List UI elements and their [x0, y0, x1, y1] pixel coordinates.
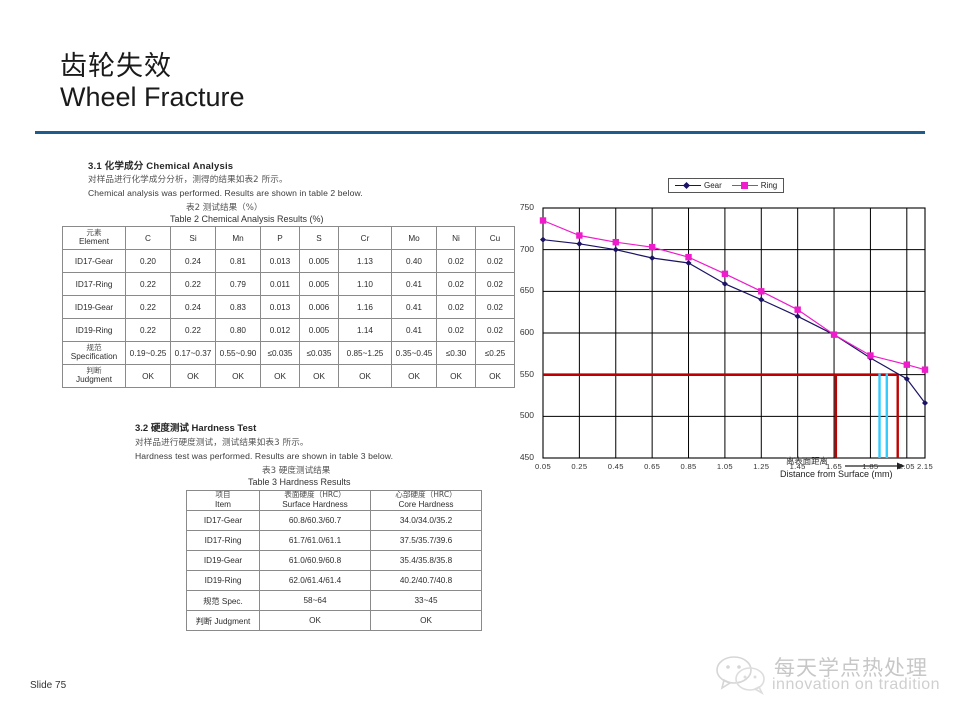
cell: 0.22	[171, 319, 216, 342]
table-row: ID17-Ring 0.22 0.22 0.79 0.011 0.005 1.1…	[63, 273, 515, 296]
table-row: ID17-Ring 61.7/61.0/61.1 37.5/35.7/39.6	[187, 531, 482, 551]
cell-surface: 60.8/60.3/60.7	[260, 511, 371, 531]
y-axis-tick-label: 500	[508, 410, 534, 420]
cell: OK	[216, 365, 261, 388]
cell-surface: OK	[260, 611, 371, 631]
hardness-note-chinese: 对样品进行硬度测试，测试结果如表3 所示。	[135, 436, 309, 448]
cell: 0.20	[126, 250, 171, 273]
header-si: Si	[171, 227, 216, 250]
table2-caption-english: Table 2 Chemical Analysis Results (%)	[170, 214, 324, 224]
row-label: ID19-Gear	[63, 296, 126, 319]
cell: 0.013	[261, 296, 300, 319]
y-axis-tick-label: 600	[508, 327, 534, 337]
header-mn: Mn	[216, 227, 261, 250]
y-axis-tick-label: 700	[508, 244, 534, 254]
y-axis-tick-label: 750	[508, 202, 534, 212]
header-p: P	[261, 227, 300, 250]
cell: OK	[339, 365, 392, 388]
table-row: ID19-Gear 0.22 0.24 0.83 0.013 0.006 1.1…	[63, 296, 515, 319]
cell-core: 33~45	[371, 591, 482, 611]
cell: 0.005	[300, 273, 339, 296]
cell: ≤0.30	[437, 342, 476, 365]
table-row-judgment: 判断 Judgment OK OK	[187, 611, 482, 631]
hardness-results-table: 项目 Item 表面硬度（HRC） Surface Hardness 心部硬度（…	[186, 490, 482, 631]
table3-caption-english: Table 3 Hardness Results	[248, 477, 351, 487]
header-mo: Mo	[392, 227, 437, 250]
cell: 0.02	[437, 250, 476, 273]
cell: 0.22	[171, 273, 216, 296]
slide: 齿轮失效 Wheel Fracture 3.1 化学成分 Chemical An…	[0, 0, 960, 720]
cell: 0.02	[437, 296, 476, 319]
table-row-specification: 规范 Specification 0.19~0.25 0.17~0.37 0.5…	[63, 342, 515, 365]
header-s: S	[300, 227, 339, 250]
row-label-judgment: 判断 Judgment	[187, 611, 260, 631]
cell: 0.55~0.90	[216, 342, 261, 365]
cell: 0.41	[392, 296, 437, 319]
cell: 0.011	[261, 273, 300, 296]
cell: 0.02	[437, 319, 476, 342]
row-label: ID19-Ring	[63, 319, 126, 342]
cell: 0.013	[261, 250, 300, 273]
page-title-english: Wheel Fracture	[60, 82, 245, 113]
cell: 0.19~0.25	[126, 342, 171, 365]
cell: ≤0.035	[261, 342, 300, 365]
cell-core: 40.2/40.7/40.8	[371, 571, 482, 591]
row-label: ID19-Ring	[187, 571, 260, 591]
header-cr: Cr	[339, 227, 392, 250]
header-divider	[35, 131, 925, 134]
cell: 1.13	[339, 250, 392, 273]
table-header-row: 项目 Item 表面硬度（HRC） Surface Hardness 心部硬度（…	[187, 491, 482, 511]
cell-core: 34.0/34.0/35.2	[371, 511, 482, 531]
y-axis-tick-label: 650	[508, 285, 534, 295]
cell: OK	[437, 365, 476, 388]
cell: 0.41	[392, 273, 437, 296]
cell-surface: 61.0/60.9/60.8	[260, 551, 371, 571]
cell: 0.83	[216, 296, 261, 319]
row-label: ID17-Gear	[63, 250, 126, 273]
cell: OK	[261, 365, 300, 388]
cell: 1.16	[339, 296, 392, 319]
x-axis-tick-label: 1.65	[819, 462, 849, 471]
x-axis-tick-label: 2.15	[910, 462, 940, 471]
cell: 0.85~1.25	[339, 342, 392, 365]
table3-caption-chinese: 表3 硬度测试结果	[262, 464, 330, 476]
row-label-specification: 规范 Spec.	[187, 591, 260, 611]
cell: 0.02	[437, 273, 476, 296]
x-axis-tick-label: 1.25	[746, 462, 776, 471]
cell: 0.24	[171, 250, 216, 273]
cell-core: 35.4/35.8/35.8	[371, 551, 482, 571]
cell: ≤0.035	[300, 342, 339, 365]
hardness-depth-chart: Gear Ring 离表面距离 Distance from Surface (m…	[500, 170, 950, 490]
x-axis-tick-label: 1.85	[855, 462, 885, 471]
row-label-specification: 规范 Specification	[63, 342, 126, 365]
y-axis-tick-label: 450	[508, 452, 534, 462]
cell: 0.17~0.37	[171, 342, 216, 365]
x-axis-tick-label: 1.45	[783, 462, 813, 471]
header-ni: Ni	[437, 227, 476, 250]
cell: 0.006	[300, 296, 339, 319]
cell: 0.40	[392, 250, 437, 273]
cell: 0.005	[300, 319, 339, 342]
y-axis-tick-label: 550	[508, 369, 534, 379]
chemical-analysis-table: 元素 Element C Si Mn P S Cr Mo Ni Cu ID17-…	[62, 226, 515, 388]
cell-core: 37.5/35.7/39.6	[371, 531, 482, 551]
cell: OK	[126, 365, 171, 388]
cell: 1.10	[339, 273, 392, 296]
table-row: ID19-Gear 61.0/60.9/60.8 35.4/35.8/35.8	[187, 551, 482, 571]
cell: 0.35~0.45	[392, 342, 437, 365]
chemical-note-english: Chemical analysis was performed. Results…	[88, 188, 363, 198]
row-label-judgment: 判断 Judgment	[63, 365, 126, 388]
row-label: ID17-Gear	[187, 511, 260, 531]
table-row: ID17-Gear 0.20 0.24 0.81 0.013 0.005 1.1…	[63, 250, 515, 273]
row-label: ID17-Ring	[63, 273, 126, 296]
x-axis-tick-label: 0.25	[564, 462, 594, 471]
table2-caption-chinese: 表2 测试结果（%）	[186, 201, 263, 213]
x-axis-tick-label: 0.45	[601, 462, 631, 471]
cell: 0.22	[126, 273, 171, 296]
cell: 0.22	[126, 319, 171, 342]
header-core-hardness: 心部硬度（HRC） Core Hardness	[371, 491, 482, 511]
table-row: ID17-Gear 60.8/60.3/60.7 34.0/34.0/35.2	[187, 511, 482, 531]
table-row: ID19-Ring 62.0/61.4/61.4 40.2/40.7/40.8	[187, 571, 482, 591]
cell: OK	[171, 365, 216, 388]
slide-number: Slide 75	[30, 680, 66, 691]
cell: 0.41	[392, 319, 437, 342]
chemical-analysis-heading: 3.1 化学成分 Chemical Analysis	[88, 158, 233, 172]
wechat-icon	[712, 650, 768, 696]
header-surface-hardness: 表面硬度（HRC） Surface Hardness	[260, 491, 371, 511]
watermark: 每天学点热处理 innovation on tradition	[712, 650, 952, 712]
cell-surface: 58~64	[260, 591, 371, 611]
page-title-chinese: 齿轮失效	[60, 44, 172, 83]
cell-surface: 61.7/61.0/61.1	[260, 531, 371, 551]
x-axis-tick-label: 0.85	[674, 462, 704, 471]
cell: OK	[300, 365, 339, 388]
cell: 0.79	[216, 273, 261, 296]
header-item: 项目 Item	[187, 491, 260, 511]
cell: 0.22	[126, 296, 171, 319]
hardness-note-english: Hardness test was performed. Results are…	[135, 451, 393, 461]
hardness-test-heading: 3.2 硬度测试 Hardness Test	[135, 420, 256, 434]
cell-surface: 62.0/61.4/61.4	[260, 571, 371, 591]
table-row: ID19-Ring 0.22 0.22 0.80 0.012 0.005 1.1…	[63, 319, 515, 342]
x-axis-tick-label: 0.05	[528, 462, 558, 471]
watermark-text-english: innovation on tradition	[772, 676, 940, 694]
row-label: ID19-Gear	[187, 551, 260, 571]
cell: 0.81	[216, 250, 261, 273]
cell: 0.80	[216, 319, 261, 342]
table-row-judgment: 判断 Judgment OK OK OK OK OK OK OK OK OK	[63, 365, 515, 388]
header-element: 元素 Element	[63, 227, 126, 250]
cell: OK	[392, 365, 437, 388]
x-axis-tick-label: 1.05	[710, 462, 740, 471]
cell-core: OK	[371, 611, 482, 631]
chemical-note-chinese: 对样品进行化学成分分析，测得的结果如表2 所示。	[88, 173, 288, 185]
chart-plot-area	[500, 170, 950, 490]
header-c: C	[126, 227, 171, 250]
row-label: ID17-Ring	[187, 531, 260, 551]
cell: 0.24	[171, 296, 216, 319]
table-header-row: 元素 Element C Si Mn P S Cr Mo Ni Cu	[63, 227, 515, 250]
cell: 0.005	[300, 250, 339, 273]
cell: 1.14	[339, 319, 392, 342]
table-row-specification: 规范 Spec. 58~64 33~45	[187, 591, 482, 611]
cell: 0.012	[261, 319, 300, 342]
x-axis-tick-label: 0.65	[637, 462, 667, 471]
